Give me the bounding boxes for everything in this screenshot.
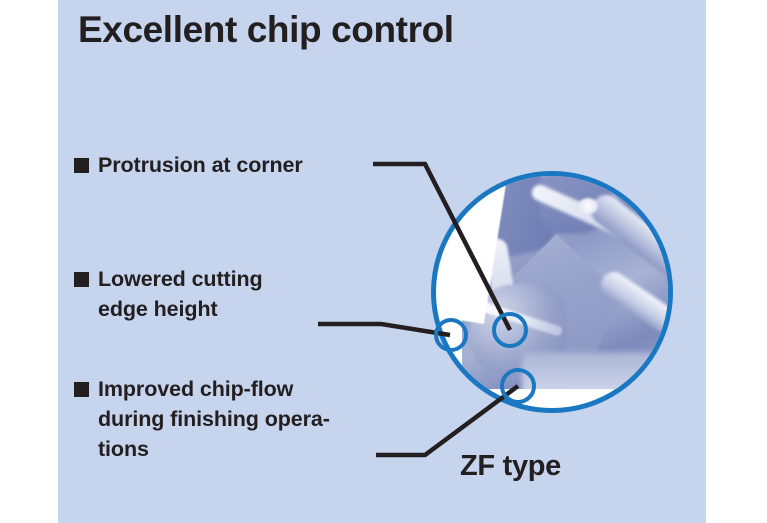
marker-protrusion-at-corner <box>492 312 528 348</box>
slide-root: Excellent chip control Protrusion at cor… <box>0 0 767 523</box>
marker-improved-chip-flow <box>500 368 536 404</box>
leader-lines <box>0 0 767 523</box>
leader-line-chip-flow <box>376 386 518 455</box>
leader-line-protrusion <box>373 164 510 330</box>
leader-line-lowered-edge <box>318 324 450 335</box>
marker-lowered-cutting-edge-height <box>434 318 468 352</box>
photo-caption: ZF type <box>460 450 561 483</box>
